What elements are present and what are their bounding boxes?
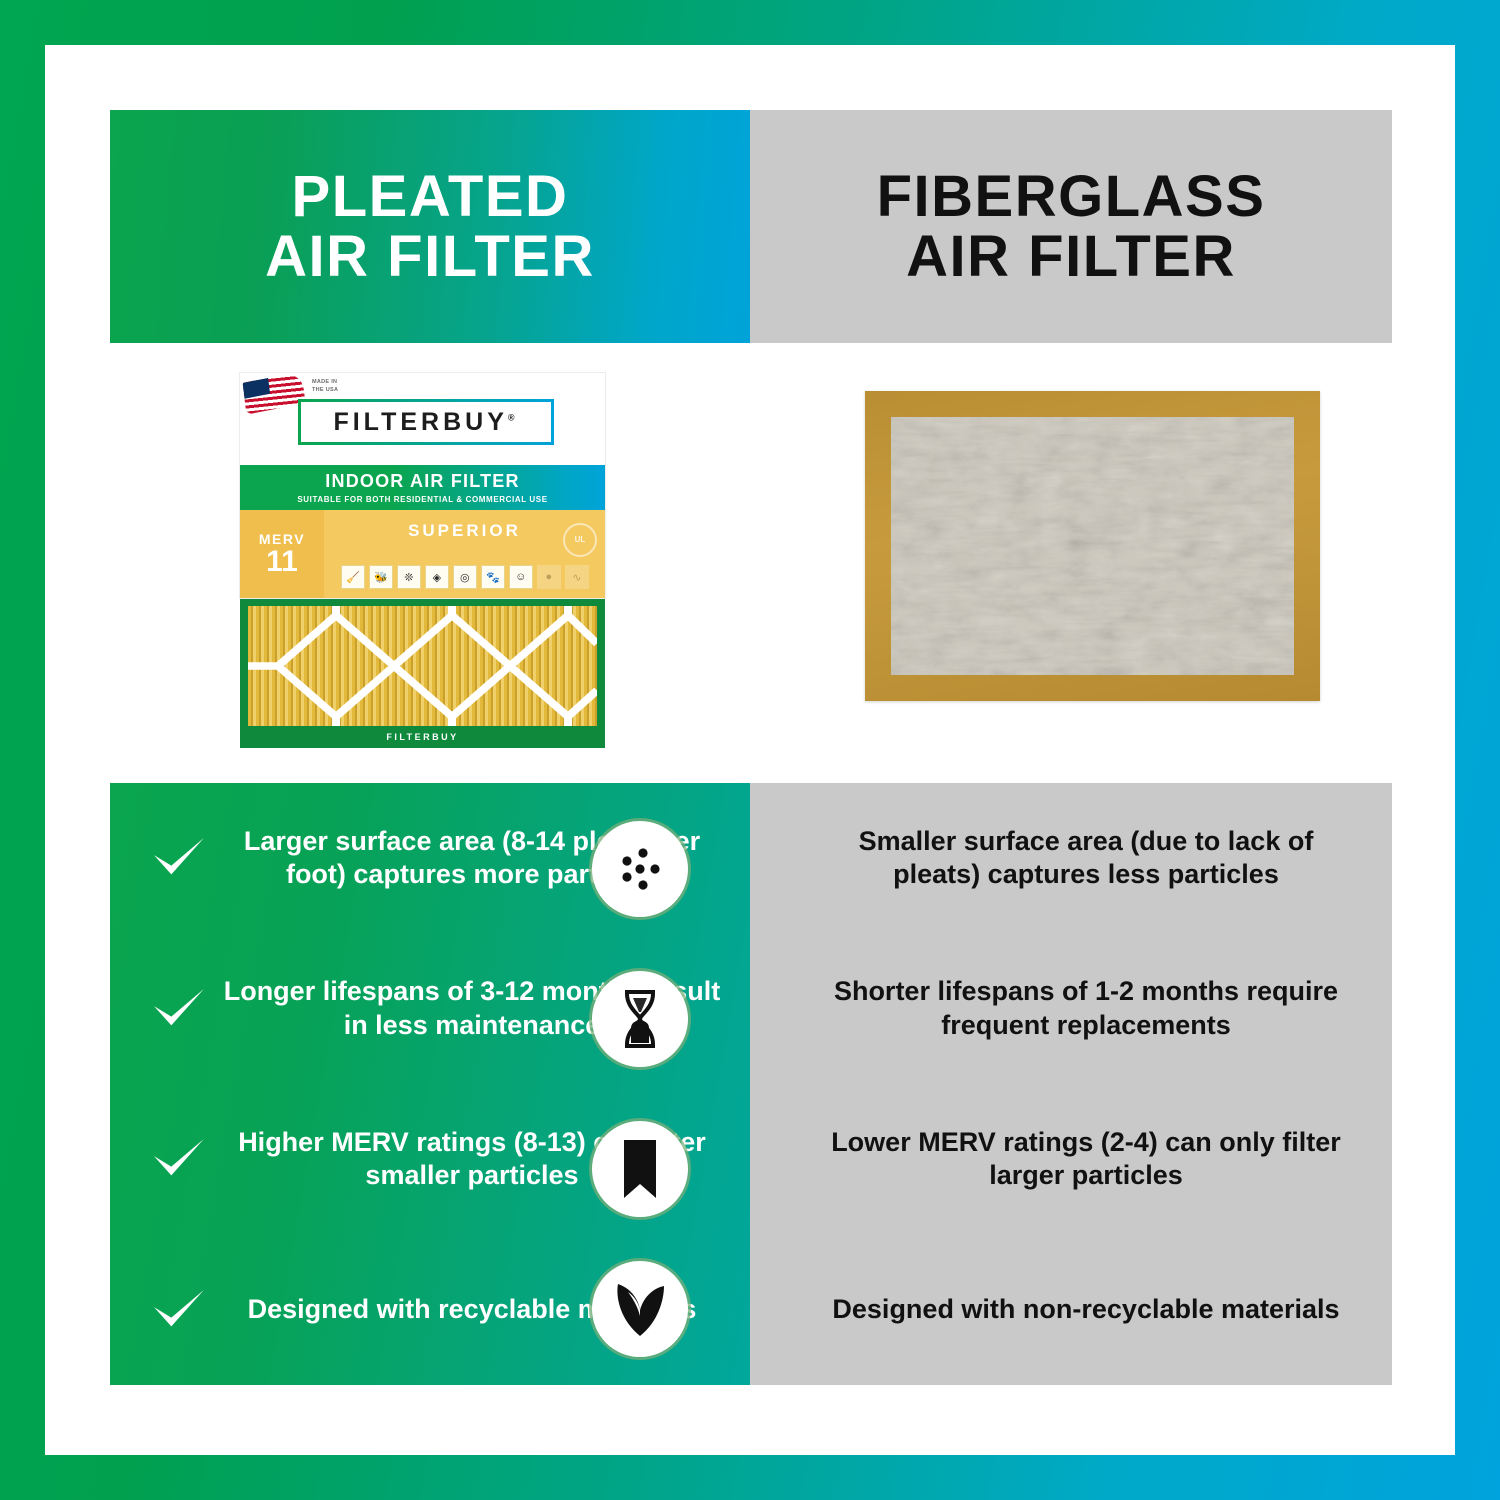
pollen-icon: ❊ bbox=[397, 565, 421, 589]
product-images-row: FILTERBUY MADE IN THE USA FILTERBUY® IND… bbox=[110, 343, 1392, 783]
header-pleated-title: PLEATED AIR FILTER bbox=[265, 167, 595, 286]
brand-text: FILTERBUY bbox=[333, 408, 507, 436]
pleated-label-card: MADE IN THE USA FILTERBUY® INDOOR AIR FI… bbox=[240, 373, 605, 598]
feature-icon-strip: 🧹 🐝 ❊ ◈ ◎ 🐾 ☺ ● ∿ bbox=[341, 565, 594, 589]
table-row: Lower MERV ratings (2-4) can only filter… bbox=[750, 1084, 1392, 1235]
fiberglass-filter-image bbox=[865, 391, 1320, 701]
particles-icon bbox=[592, 821, 688, 917]
header-pleated-line1: PLEATED bbox=[265, 167, 595, 227]
odor-icon: ∿ bbox=[565, 565, 589, 589]
mold-spore-icon: ◈ bbox=[425, 565, 449, 589]
ul-certification-icon: UL bbox=[563, 523, 597, 557]
table-row: Smaller surface area (due to lack of ple… bbox=[750, 783, 1392, 934]
table-row: Designed with non-recyclable materials bbox=[750, 1235, 1392, 1386]
checkmark-icon bbox=[140, 1135, 218, 1183]
fiberglass-drawback-2: Shorter lifespans of 1-2 months require … bbox=[820, 975, 1352, 1042]
header-pleated: PLEATED AIR FILTER bbox=[110, 110, 750, 343]
pleated-brand-row: MADE IN THE USA FILTERBUY® bbox=[240, 373, 605, 465]
header-fiberglass-title: FIBERGLASS AIR FILTER bbox=[877, 167, 1266, 286]
fiberglass-media bbox=[891, 417, 1294, 675]
tier-section: SUPERIOR UL 🧹 🐝 ❊ ◈ ◎ 🐾 ☺ ● ∿ bbox=[324, 510, 605, 598]
hourglass-icon bbox=[592, 971, 688, 1067]
header-pleated-line2: AIR FILTER bbox=[265, 227, 595, 287]
header-fiberglass-line1: FIBERGLASS bbox=[877, 167, 1266, 227]
table-row: Shorter lifespans of 1-2 months require … bbox=[750, 934, 1392, 1085]
merv-value: 11 bbox=[266, 547, 298, 577]
filterbuy-logo: FILTERBUY® bbox=[298, 399, 554, 445]
band-title: INDOOR AIR FILTER bbox=[325, 471, 519, 492]
band-subtitle: SUITABLE FOR BOTH RESIDENTIAL & COMMERCI… bbox=[297, 495, 547, 504]
pleated-filter-image: FILTERBUY MADE IN THE USA FILTERBUY® IND… bbox=[240, 373, 605, 748]
ribbon-icon bbox=[592, 1121, 688, 1217]
bacteria-icon: ◎ bbox=[453, 565, 477, 589]
leaf-icon bbox=[592, 1261, 688, 1357]
fiberglass-drawback-1: Smaller surface area (due to lack of ple… bbox=[820, 825, 1352, 892]
pill-icon: ● bbox=[537, 565, 561, 589]
fiberglass-drawback-4: Designed with non-recyclable materials bbox=[820, 1293, 1352, 1326]
made-in-usa-text: MADE IN THE USA bbox=[312, 379, 338, 394]
outer-gradient-border: PLEATED AIR FILTER FIBERGLASS AIR FILTER bbox=[0, 0, 1500, 1500]
wire-mesh-overlay bbox=[248, 606, 597, 726]
merv-section: MERV 11 SUPERIOR UL 🧹 🐝 ❊ ◈ ◎ 🐾 bbox=[240, 510, 605, 598]
pleated-media: FILTERBUY bbox=[240, 598, 605, 748]
fiberglass-drawbacks-column: Smaller surface area (due to lack of ple… bbox=[750, 783, 1392, 1385]
dust-icon: 🧹 bbox=[341, 565, 365, 589]
checkmark-icon bbox=[140, 834, 218, 882]
comparison-panel: Larger surface area (8-14 pleats per foo… bbox=[110, 783, 1392, 1385]
smoke-icon: ☺ bbox=[509, 565, 533, 589]
fiberglass-drawback-3: Lower MERV ratings (2-4) can only filter… bbox=[820, 1126, 1352, 1193]
insect-icon: 🐝 bbox=[369, 565, 393, 589]
usa-flag-icon bbox=[243, 373, 306, 415]
indoor-air-filter-band: INDOOR AIR FILTER SUITABLE FOR BOTH RESI… bbox=[240, 465, 605, 510]
pleated-footer-brand: FILTERBUY bbox=[240, 726, 605, 748]
header-fiberglass-line2: AIR FILTER bbox=[877, 227, 1266, 287]
pet-dander-icon: 🐾 bbox=[481, 565, 505, 589]
checkmark-icon bbox=[140, 985, 218, 1033]
checkmark-icon bbox=[140, 1286, 218, 1334]
header-fiberglass: FIBERGLASS AIR FILTER bbox=[750, 110, 1392, 343]
merv-badge: MERV 11 bbox=[240, 510, 324, 598]
comparison-header: PLEATED AIR FILTER FIBERGLASS AIR FILTER bbox=[110, 110, 1392, 343]
registered-mark: ® bbox=[508, 412, 519, 422]
fiber-texture bbox=[891, 417, 1294, 675]
